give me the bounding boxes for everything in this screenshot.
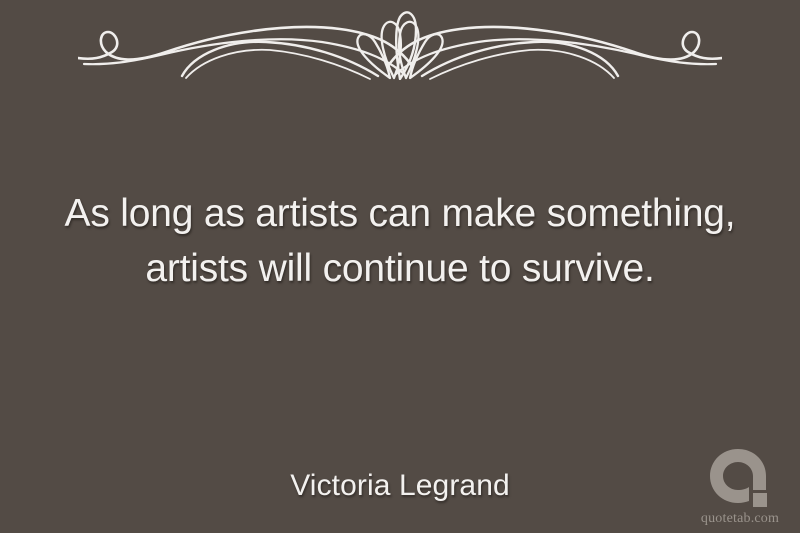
quote-text: As long as artists can make something, a… [0, 186, 800, 296]
author-name[interactable]: Victoria Legrand [290, 467, 510, 505]
brand-name: quotetab.com [688, 511, 792, 527]
quotetab-q-logo-icon [708, 447, 772, 509]
quote-block: As long as artists can make something, a… [0, 186, 800, 296]
author-block: Victoria Legrand [0, 467, 800, 505]
flourish-divider-ornament-icon [78, 8, 722, 80]
brand-watermark[interactable]: quotetab.com [688, 447, 792, 527]
quote-card: As long as artists can make something, a… [0, 0, 800, 533]
